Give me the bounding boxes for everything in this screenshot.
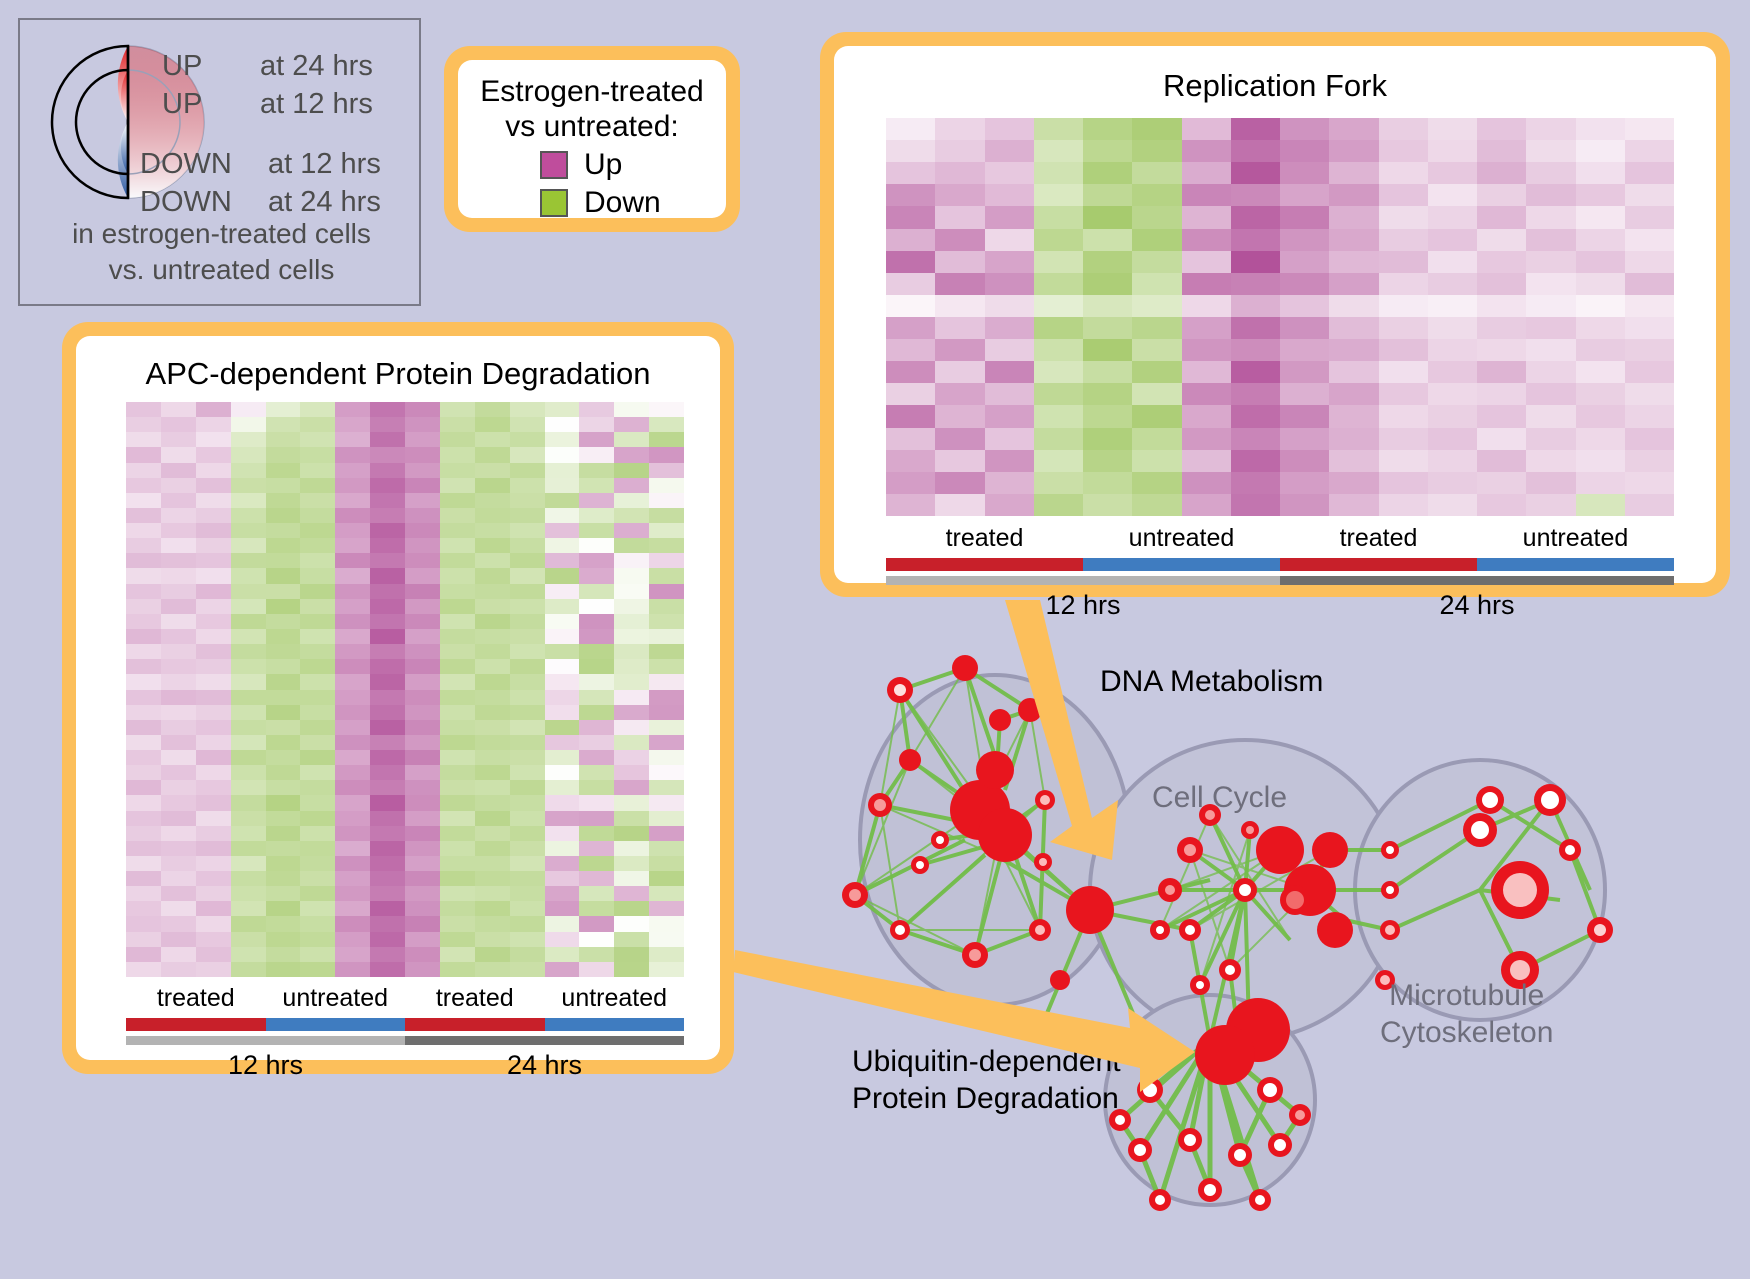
heatmap-cell (161, 493, 196, 508)
heatmap-cell (545, 750, 580, 765)
heatmap-cell (579, 417, 614, 432)
heatmap-cell (579, 690, 614, 705)
heatmap-cell (886, 140, 935, 162)
heatmap-cell (231, 735, 266, 750)
heatmap-cell (1477, 383, 1526, 405)
heatmap-cell (1329, 472, 1378, 494)
heatmap-cell (475, 780, 510, 795)
heatmap-cell (1083, 428, 1132, 450)
heatmap-cell (1526, 428, 1575, 450)
heatmap-cell (1132, 317, 1181, 339)
heatmap-cell (1576, 317, 1625, 339)
heatmap-cell (126, 765, 161, 780)
heatmap-cell (1280, 184, 1329, 206)
heatmap-cell (370, 463, 405, 478)
heatmap-cell (1034, 295, 1083, 317)
heatmap-cell (405, 659, 440, 674)
heatmap-cell (231, 871, 266, 886)
heatmap-replication-fork (886, 118, 1674, 516)
heatmap-cell (300, 508, 335, 523)
heatmap-cell (510, 538, 545, 553)
condition-bar-segment (1280, 558, 1477, 571)
heatmap-cell (370, 553, 405, 568)
heatmap-cell (1526, 251, 1575, 273)
heatmap-cell (266, 765, 301, 780)
heatmap-cell (335, 690, 370, 705)
heatmap-cell (266, 584, 301, 599)
heatmap-cell (475, 493, 510, 508)
heatmap-cell (1132, 339, 1181, 361)
heatmap-cell (126, 629, 161, 644)
heatmap-cell (266, 478, 301, 493)
pathway-network-diagram[interactable] (790, 600, 1750, 1279)
heatmap-cell (510, 795, 545, 810)
heatmap-cell (370, 432, 405, 447)
heatmap-cell (1625, 229, 1674, 251)
heatmap-cell (1576, 118, 1625, 140)
heatmap-cell (440, 780, 475, 795)
heatmap-cell (1280, 118, 1329, 140)
heatmap-cell (475, 811, 510, 826)
heatmap-cell (475, 947, 510, 962)
heatmap-cell (405, 690, 440, 705)
legend-item-up[interactable]: Up (540, 150, 622, 180)
heatmap-cell (161, 568, 196, 583)
heatmap-cell (196, 947, 231, 962)
legend-title-line2: vs untreated: (458, 109, 726, 144)
time-label: 24 hrs (405, 1050, 684, 1081)
heatmap-cell (649, 765, 684, 780)
heatmap-cell (196, 447, 231, 462)
heatmap-cell (370, 780, 405, 795)
heatmap-cell (1576, 339, 1625, 361)
heatmap-cell (161, 947, 196, 962)
heatmap-cell (579, 538, 614, 553)
heatmap-cell (126, 432, 161, 447)
heatmap-cell (1132, 428, 1181, 450)
heatmap-cell (370, 447, 405, 462)
heatmap-cell (475, 765, 510, 780)
heatmap-cell (440, 568, 475, 583)
heatmap-cell (266, 523, 301, 538)
heatmap-cell (196, 568, 231, 583)
heatmap-cell (300, 402, 335, 417)
heatmap-cell (1329, 206, 1378, 228)
heatmap-cell (161, 478, 196, 493)
heatmap-cell (405, 811, 440, 826)
heatmap-cell (475, 508, 510, 523)
heatmap-cell (161, 538, 196, 553)
heatmap-cell (300, 629, 335, 644)
heatmap-cell (1576, 251, 1625, 273)
heatmap-cell (1379, 428, 1428, 450)
heatmap-cell (475, 826, 510, 841)
heatmap-cell (579, 886, 614, 901)
heatmap-cell (475, 523, 510, 538)
heatmap-cell (440, 886, 475, 901)
heatmap-cell (440, 916, 475, 931)
heatmap-cell (475, 463, 510, 478)
heatmap-cell (510, 705, 545, 720)
heatmap-cell (1477, 428, 1526, 450)
heatmap-cell (161, 780, 196, 795)
heatmap-cell (1379, 295, 1428, 317)
heatmap-cell (1526, 140, 1575, 162)
heatmap-cell (161, 432, 196, 447)
heatmap-cell (266, 780, 301, 795)
heatmap-cell (370, 947, 405, 962)
heatmap-cell (231, 705, 266, 720)
heatmap-cell (266, 508, 301, 523)
heatmap-cell (231, 674, 266, 689)
heatmap-cell (510, 856, 545, 871)
heatmap-cell (649, 523, 684, 538)
heatmap-cell (440, 432, 475, 447)
heatmap-cell (440, 447, 475, 462)
heatmap-cell (440, 417, 475, 432)
heatmap-cell (300, 735, 335, 750)
heatmap-cell (1182, 295, 1231, 317)
heatmap-cell (335, 932, 370, 947)
heatmap-cell (475, 553, 510, 568)
heatmap-cell (935, 229, 984, 251)
heatmap-cell (545, 947, 580, 962)
heatmap-cell (1428, 184, 1477, 206)
heatmap-cell (126, 780, 161, 795)
heatmap-cell (935, 206, 984, 228)
heatmap-cell (196, 523, 231, 538)
heatmap-cell (161, 916, 196, 931)
heatmap-cell (300, 538, 335, 553)
heatmap-cell (300, 523, 335, 538)
heatmap-cell (335, 523, 370, 538)
heatmap-cell (370, 765, 405, 780)
heatmap-cell (335, 644, 370, 659)
heatmap-cell (475, 962, 510, 977)
heatmap-cell (440, 584, 475, 599)
heatmap-cell (1231, 317, 1280, 339)
up-color-swatch (540, 151, 568, 179)
heatmap-cell (614, 463, 649, 478)
heatmap-cell (1231, 118, 1280, 140)
heatmap-cell (1625, 383, 1674, 405)
heatmap-cell (440, 508, 475, 523)
heatmap-cell (1083, 494, 1132, 516)
heatmap-cell (886, 428, 935, 450)
heatmap-cell (649, 508, 684, 523)
heatmap-cell (300, 674, 335, 689)
heatmap-cell (1526, 184, 1575, 206)
heatmap-cell (1625, 405, 1674, 427)
heatmap-cell (196, 584, 231, 599)
apc-condition-bar (126, 1018, 684, 1031)
heatmap-cell (440, 871, 475, 886)
heatmap-cell (335, 720, 370, 735)
heatmap-cell (1132, 273, 1181, 295)
heatmap-cell (405, 947, 440, 962)
heatmap-cell (231, 584, 266, 599)
heatmap-cell (1132, 405, 1181, 427)
heatmap-cell (231, 447, 266, 462)
heatmap-cell (1132, 118, 1181, 140)
heatmap-cell (370, 478, 405, 493)
heatmap-cell (1182, 317, 1231, 339)
heatmap-cell (266, 811, 301, 826)
heatmap-cell (231, 795, 266, 810)
heatmap-cell (370, 720, 405, 735)
heatmap-cell (196, 720, 231, 735)
heatmap-cell (266, 705, 301, 720)
heatmap-cell (579, 856, 614, 871)
heatmap-cell (545, 447, 580, 462)
heatmap-cell (1379, 383, 1428, 405)
heatmap-cell (545, 916, 580, 931)
heatmap-cell (1280, 273, 1329, 295)
heatmap-cell (985, 229, 1034, 251)
heatmap-cell (440, 614, 475, 629)
heatmap-cell (405, 856, 440, 871)
heatmap-cell (1576, 494, 1625, 516)
heatmap-cell (405, 901, 440, 916)
heatmap-cell (126, 447, 161, 462)
heatmap-cell (1526, 494, 1575, 516)
heatmap-cell (231, 463, 266, 478)
heatmap-cell (985, 295, 1034, 317)
key-time-2: at 12 hrs (268, 148, 381, 181)
heatmap-cell (1428, 162, 1477, 184)
heatmap-cell (266, 871, 301, 886)
heatmap-cell (1132, 140, 1181, 162)
heatmap-cell (579, 811, 614, 826)
heatmap-cell (1625, 472, 1674, 494)
heatmap-cell (935, 428, 984, 450)
heatmap-cell (1182, 361, 1231, 383)
condition-label: untreated (266, 984, 406, 1013)
heatmap-cell (545, 735, 580, 750)
heatmap-cell (475, 690, 510, 705)
heatmap-cell (579, 674, 614, 689)
heatmap-cell (231, 765, 266, 780)
heatmap-cell (985, 184, 1034, 206)
heatmap-cell (1329, 361, 1378, 383)
heatmap-cell (545, 841, 580, 856)
heatmap-cell (300, 901, 335, 916)
heatmap-cell (405, 765, 440, 780)
heatmap-cell (985, 450, 1034, 472)
heatmap-cell (405, 886, 440, 901)
heatmap-cell (545, 765, 580, 780)
heatmap-cell (614, 417, 649, 432)
heatmap-cell (370, 901, 405, 916)
heatmap-cell (510, 916, 545, 931)
heatmap-cell (579, 402, 614, 417)
heatmap-cell (1132, 229, 1181, 251)
heatmap-cell (545, 871, 580, 886)
heatmap-cell (614, 584, 649, 599)
heatmap-cell (1576, 295, 1625, 317)
heatmap-cell (579, 659, 614, 674)
key-footer: in estrogen-treated cells vs. untreated … (20, 216, 423, 288)
heatmap-cell (579, 916, 614, 931)
heatmap-cell (440, 705, 475, 720)
heatmap-cell (161, 856, 196, 871)
heatmap-cell (126, 478, 161, 493)
heatmap-cell (1576, 229, 1625, 251)
down-color-swatch (540, 189, 568, 217)
heatmap-cell (614, 659, 649, 674)
heatmap-cell (1083, 361, 1132, 383)
heatmap-cell (649, 795, 684, 810)
key-value-2: DOWN (140, 148, 232, 181)
heatmap-cell (126, 674, 161, 689)
heatmap-cell (1034, 361, 1083, 383)
heatmap-cell (1083, 140, 1132, 162)
time-label: 12 hrs (126, 1050, 405, 1081)
heatmap-cell (475, 432, 510, 447)
heatmap-cell (300, 553, 335, 568)
heatmap-cell (1477, 118, 1526, 140)
heatmap-cell (510, 402, 545, 417)
heatmap-cell (231, 962, 266, 977)
heatmap-cell (545, 644, 580, 659)
heatmap-cell (126, 795, 161, 810)
heatmap-cell (370, 584, 405, 599)
heatmap-cell (161, 584, 196, 599)
heatmap-cell (1231, 251, 1280, 273)
heatmap-cell (440, 690, 475, 705)
heatmap-cell (1379, 317, 1428, 339)
heatmap-cell (300, 886, 335, 901)
heatmap-cell (1034, 450, 1083, 472)
heatmap-cell (510, 947, 545, 962)
heatmap-cell (370, 690, 405, 705)
heatmap-cell (510, 584, 545, 599)
heatmap-cell (985, 494, 1034, 516)
condition-bar-segment (886, 558, 1083, 571)
heatmap-cell (161, 463, 196, 478)
heatmap-cell (1526, 339, 1575, 361)
heatmap-cell (614, 690, 649, 705)
heatmap-cell (579, 523, 614, 538)
heatmap-cell (545, 417, 580, 432)
heatmap-cell (510, 432, 545, 447)
heatmap-cell (614, 795, 649, 810)
heatmap-cell (985, 140, 1034, 162)
heatmap-cell (370, 811, 405, 826)
heatmap-cell (1329, 140, 1378, 162)
heatmap-cell (614, 553, 649, 568)
heatmap-cell (614, 947, 649, 962)
condition-label: untreated (1083, 524, 1280, 553)
heatmap-cell (300, 599, 335, 614)
heatmap-cell (161, 508, 196, 523)
heatmap-cell (126, 735, 161, 750)
heatmap-cell (231, 523, 266, 538)
heatmap-cell (985, 273, 1034, 295)
heatmap-cell (196, 478, 231, 493)
heatmap-cell (1182, 140, 1231, 162)
heatmap-cell (231, 644, 266, 659)
heatmap-cell (300, 644, 335, 659)
heatmap-cell (300, 811, 335, 826)
heatmap-cell (405, 447, 440, 462)
legend-item-down[interactable]: Down (540, 188, 661, 218)
heatmap-cell (649, 932, 684, 947)
heatmap-cell (545, 523, 580, 538)
key-time-0: at 24 hrs (260, 50, 373, 83)
heatmap-cell (1625, 428, 1674, 450)
heatmap-cell (1182, 184, 1231, 206)
condition-bar-segment (1477, 558, 1674, 571)
heatmap-cell (935, 383, 984, 405)
heatmap-cell (405, 538, 440, 553)
heatmap-cell (1428, 251, 1477, 273)
heatmap-cell (266, 932, 301, 947)
heatmap-cell (1083, 273, 1132, 295)
heatmap-cell (266, 447, 301, 462)
heatmap-cell (1379, 140, 1428, 162)
heatmap-cell (370, 856, 405, 871)
heatmap-cell (370, 614, 405, 629)
heatmap-cell (440, 493, 475, 508)
heatmap-cell (335, 402, 370, 417)
heatmap-cell (161, 765, 196, 780)
heatmap-cell (545, 690, 580, 705)
heatmap-cell (614, 478, 649, 493)
heatmap-cell (266, 886, 301, 901)
heatmap-cell (1428, 339, 1477, 361)
heatmap-cell (649, 811, 684, 826)
label-cell-cycle: Cell Cycle (1152, 781, 1287, 815)
heatmap-cell (1625, 450, 1674, 472)
heatmap-cell (886, 184, 935, 206)
heatmap-cell (1329, 317, 1378, 339)
heatmap-cell (196, 765, 231, 780)
heatmap-cell (161, 690, 196, 705)
heatmap-cell (1231, 184, 1280, 206)
heatmap-cell (1280, 405, 1329, 427)
heatmap-cell (231, 750, 266, 765)
heatmap-cell (196, 901, 231, 916)
heatmap-cell (1576, 450, 1625, 472)
heatmap-cell (196, 508, 231, 523)
heatmap-cell (1576, 472, 1625, 494)
heatmap-cell (510, 523, 545, 538)
heatmap-cell (440, 674, 475, 689)
heatmap-cell (475, 901, 510, 916)
heatmap-cell (196, 432, 231, 447)
heatmap-cell (545, 826, 580, 841)
heatmap-cell (510, 659, 545, 674)
heatmap-cell (1379, 405, 1428, 427)
heatmap-cell (335, 447, 370, 462)
heatmap-cell (335, 947, 370, 962)
heatmap-cell (266, 690, 301, 705)
heatmap-cell (935, 295, 984, 317)
heatmap-cell (1526, 118, 1575, 140)
heatmap-cell (614, 523, 649, 538)
heatmap-cell (231, 901, 266, 916)
heatmap-cell (370, 538, 405, 553)
heatmap-cell (126, 901, 161, 916)
heatmap-cell (1280, 472, 1329, 494)
heatmap-cell (579, 508, 614, 523)
condition-label: treated (126, 984, 266, 1013)
heatmap-cell (475, 599, 510, 614)
heatmap-cell (1428, 428, 1477, 450)
heatmap-cell (370, 841, 405, 856)
heatmap-cell (231, 720, 266, 735)
